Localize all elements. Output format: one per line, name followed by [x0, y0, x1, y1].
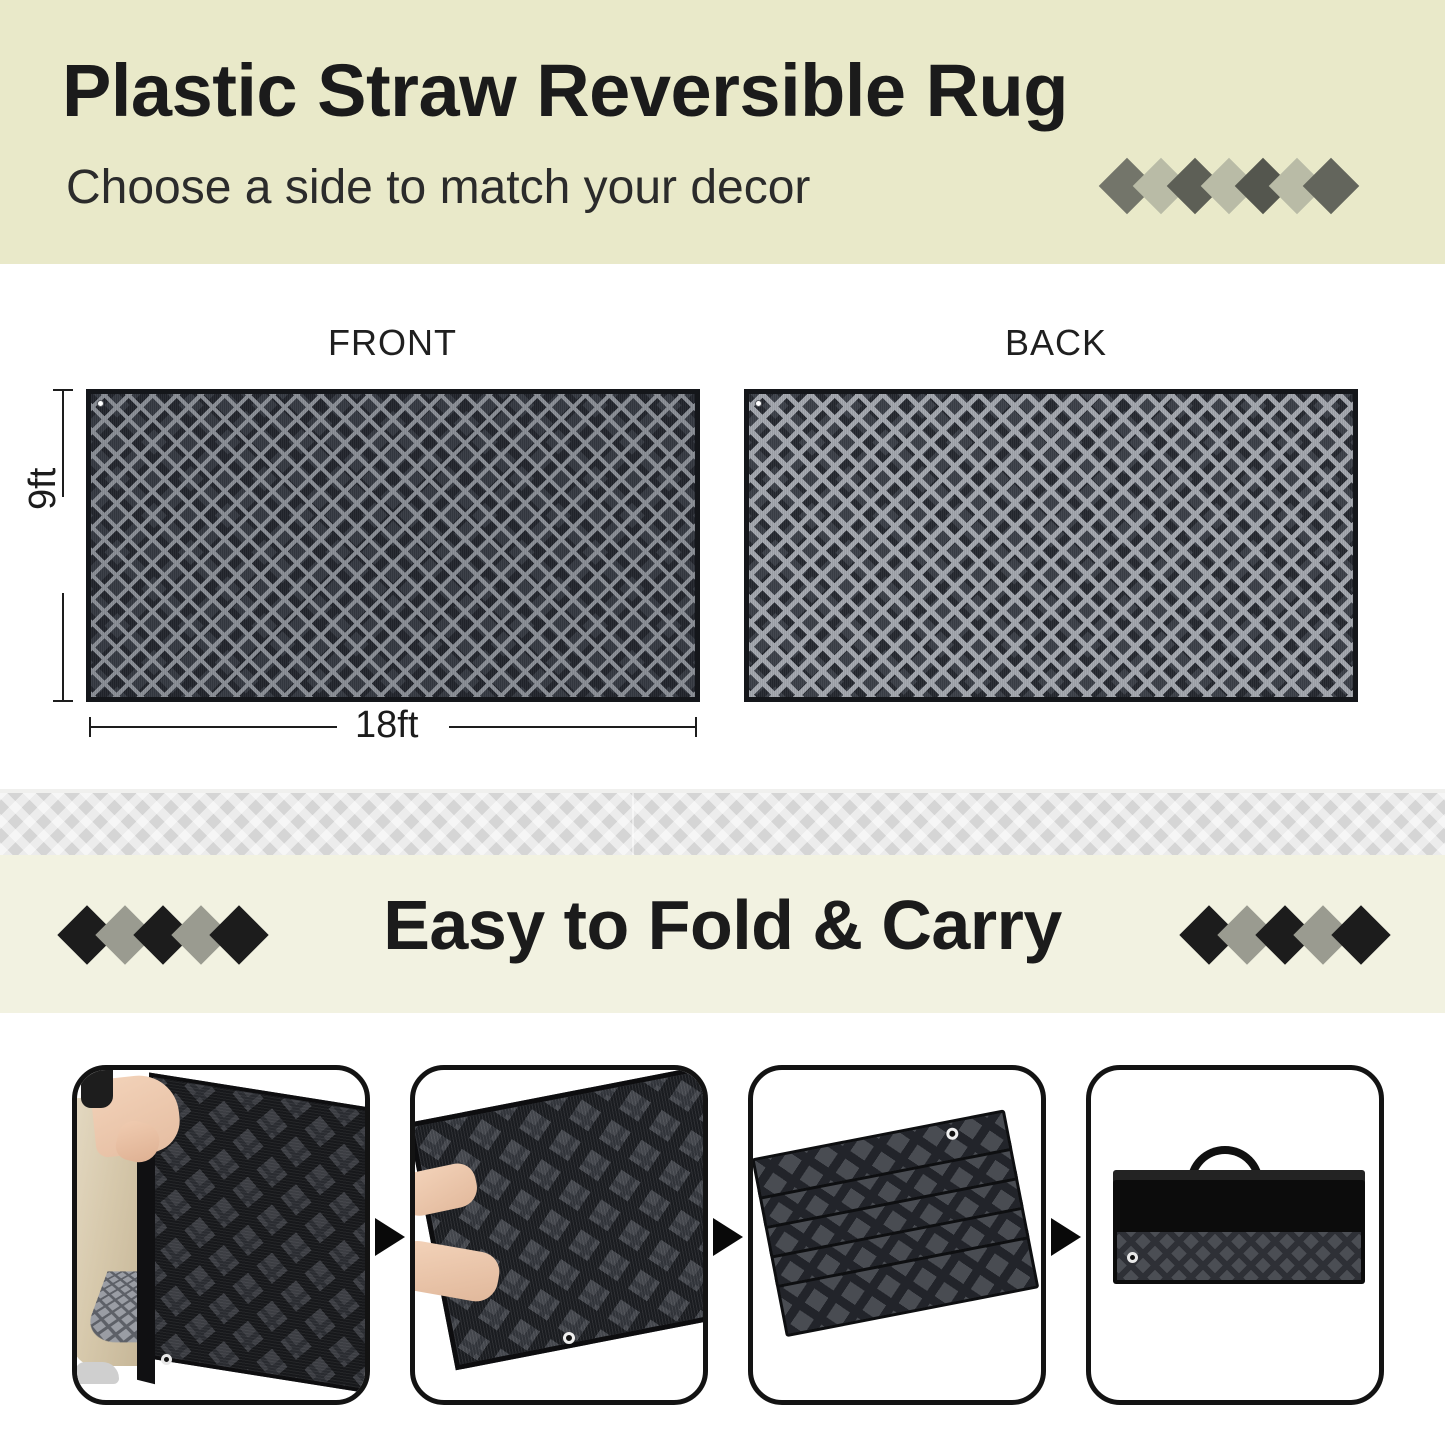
- height-dimension-cap-top: [53, 389, 73, 391]
- banner-right-ornament: [1190, 914, 1380, 956]
- lifted-rug-grommet-icon: [161, 1354, 172, 1365]
- chevron-divider-strip: [0, 789, 1445, 855]
- step-arrow-2: [713, 1218, 743, 1256]
- folding-rug-grommet-icon: [563, 1332, 575, 1344]
- front-back-comparison: FRONT BACK 9ft 18ft: [0, 264, 1445, 789]
- header-diamond-7: [1303, 158, 1360, 215]
- header-diamond-ornament: [1110, 166, 1348, 206]
- back-rug-grommet-icon: [755, 400, 762, 407]
- divider-seam: [632, 789, 634, 855]
- step-arrow-3: [1051, 1218, 1081, 1256]
- page-subtitle: Choose a side to match your decor: [66, 160, 810, 215]
- lifted-rug-weave: [153, 1077, 370, 1393]
- width-dimension-cap-left: [89, 717, 91, 737]
- front-rug-swatch: [86, 389, 700, 702]
- front-rug-pattern: [91, 394, 695, 697]
- fold-carry-banner: Easy to Fold & Carry: [0, 855, 1445, 1013]
- folded-rug-stack: [751, 1109, 1044, 1364]
- chevron-pattern: [0, 789, 1445, 855]
- back-rug-pattern: [749, 394, 1353, 697]
- front-rug-grommet-icon: [97, 400, 104, 407]
- carry-bag-mesh-panel: [1115, 1230, 1363, 1282]
- back-rug-swatch: [744, 389, 1358, 702]
- divider-top-highlight: [0, 789, 1445, 793]
- page-title: Plastic Straw Reversible Rug: [62, 48, 1068, 133]
- front-label: FRONT: [328, 322, 457, 364]
- lifted-rug: [149, 1073, 370, 1398]
- person-shoe: [75, 1362, 119, 1384]
- height-dimension-gap: [52, 497, 74, 593]
- step-arrow-1: [375, 1218, 405, 1256]
- product-infographic: Plastic Straw Reversible Rug Choose a si…: [0, 0, 1445, 1445]
- height-dimension-label: 9ft: [22, 468, 65, 510]
- step-panel-folded-stack: [748, 1065, 1046, 1405]
- fold-steps-row: [0, 1013, 1445, 1445]
- step-panel-fold-rug: [410, 1065, 708, 1405]
- person-sleeve: [81, 1070, 113, 1108]
- height-dimension-line: [62, 389, 64, 702]
- back-label: BACK: [1005, 322, 1107, 364]
- height-dimension-cap-bottom: [53, 700, 73, 702]
- width-dimension-cap-right: [695, 717, 697, 737]
- step-panel-carry-bag: [1086, 1065, 1384, 1405]
- step-panel-lift-rug: [72, 1065, 370, 1405]
- header-band: Plastic Straw Reversible Rug Choose a si…: [0, 0, 1445, 264]
- carry-bag-grommet-icon: [1127, 1252, 1138, 1263]
- folding-rug-weave: [414, 1072, 708, 1365]
- width-dimension-label: 18ft: [355, 704, 418, 747]
- folding-rug: [410, 1066, 708, 1371]
